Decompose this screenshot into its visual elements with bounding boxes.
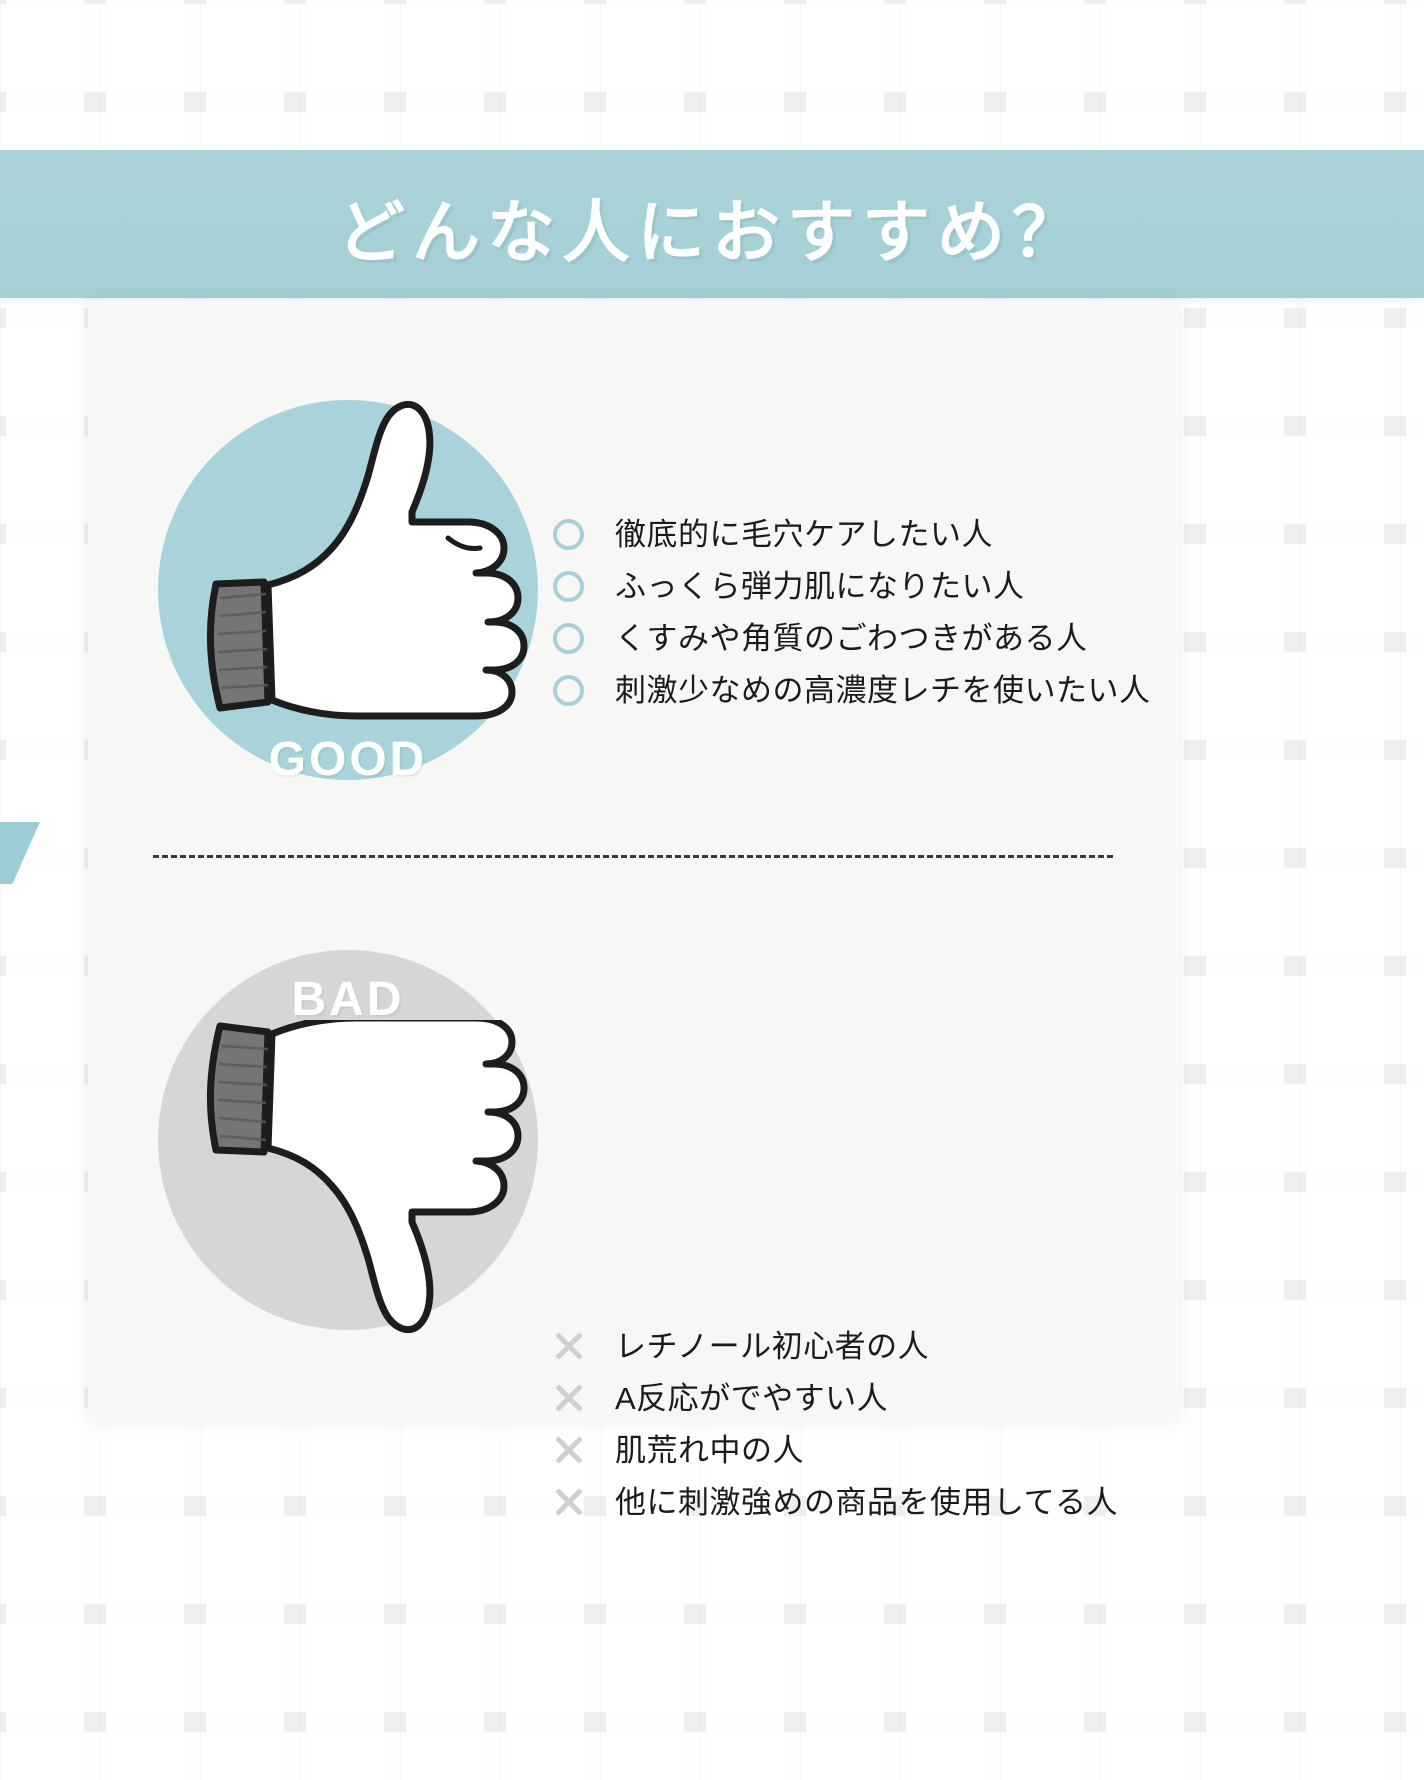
good-list: 徹底的に毛穴ケアしたい人 ふっくら弾力肌になりたい人 くすみや角質のごわつきがあ…	[553, 508, 1151, 716]
list-item-label: ふっくら弾力肌になりたい人	[615, 571, 1025, 602]
circle-marker-icon	[553, 675, 615, 706]
list-item-label: 肌荒れ中の人	[615, 1435, 804, 1466]
good-badge: GOOD	[158, 732, 538, 787]
cross-marker-icon	[553, 1382, 615, 1414]
list-item: 刺激少なめの高濃度レチを使いたい人	[553, 664, 1151, 716]
circle-marker-icon	[553, 519, 615, 550]
list-item: くすみや角質のごわつきがある人	[553, 612, 1151, 664]
bad-list: レチノール初心者の人 A反応がでやすい人 肌荒れ中の人 他に刺激強めの商品を使用…	[553, 1320, 1118, 1528]
cross-marker-icon	[553, 1486, 615, 1518]
list-item-label: 他に刺激強めの商品を使用してる人	[615, 1487, 1118, 1518]
list-item: 徹底的に毛穴ケアしたい人	[553, 508, 1151, 560]
header-banner: どんな人におすすめ？	[0, 150, 1424, 298]
list-item: レチノール初心者の人	[553, 1320, 1118, 1372]
thumbs-down-icon	[146, 1020, 566, 1420]
list-item: 他に刺激強めの商品を使用してる人	[553, 1476, 1118, 1528]
bad-section: BAD レチノール初心者の人 A反応がでやすい人	[88, 920, 1180, 1420]
good-section: GOOD 徹底的に毛穴ケアしたい人 ふっくら弾力肌になりたい人 くすみや角質のご…	[88, 380, 1180, 860]
cross-marker-icon	[553, 1330, 615, 1362]
list-item-label: 刺激少なめの高濃度レチを使いたい人	[615, 675, 1151, 706]
circle-marker-icon	[553, 623, 615, 654]
list-item: A反応がでやすい人	[553, 1372, 1118, 1424]
content-card: GOOD 徹底的に毛穴ケアしたい人 ふっくら弾力肌になりたい人 くすみや角質のご…	[88, 300, 1180, 1420]
section-divider	[153, 855, 1113, 858]
page-title: どんな人におすすめ？	[337, 177, 1087, 276]
list-item: 肌荒れ中の人	[553, 1424, 1118, 1476]
cross-marker-icon	[553, 1434, 615, 1466]
list-item-label: くすみや角質のごわつきがある人	[615, 623, 1088, 654]
list-item-label: レチノール初心者の人	[615, 1331, 929, 1362]
list-item: ふっくら弾力肌になりたい人	[553, 560, 1151, 612]
bad-badge: BAD	[158, 972, 538, 1027]
list-item-label: 徹底的に毛穴ケアしたい人	[615, 519, 993, 550]
list-item-label: A反応がでやすい人	[615, 1383, 888, 1414]
thumbs-up-icon	[146, 370, 566, 770]
circle-marker-icon	[553, 571, 615, 602]
